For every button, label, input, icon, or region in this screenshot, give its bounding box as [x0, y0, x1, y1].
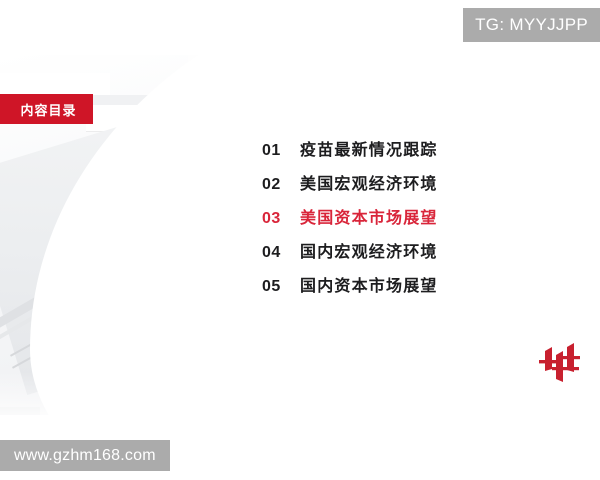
agenda-number: 04	[262, 244, 300, 262]
agenda-number: 01	[262, 142, 300, 160]
agenda-item-02[interactable]: 02 美国宏观经济环境	[262, 170, 512, 204]
agenda-label: 美国资本市场展望	[300, 204, 438, 228]
agenda-item-04[interactable]: 04 国内宏观经济环境	[262, 238, 512, 272]
agenda-item-05[interactable]: 05 国内资本市场展望	[262, 272, 512, 306]
agenda-item-03[interactable]: 03 美国资本市场展望	[262, 204, 512, 238]
agenda-list: 01 疫苗最新情况跟踪 02 美国宏观经济环境 03 美国资本市场展望 04 国…	[262, 136, 512, 306]
company-logo-icon	[537, 338, 581, 384]
agenda-number: 05	[262, 278, 300, 296]
slide-canvas: 内容目录 01 疫苗最新情况跟踪 02 美国宏观经济环境 03 美国资本市场展望…	[0, 0, 600, 480]
agenda-number: 03	[262, 210, 300, 228]
section-badge: 内容目录	[0, 94, 93, 124]
agenda-label: 国内资本市场展望	[300, 272, 438, 296]
agenda-label: 美国宏观经济环境	[300, 170, 438, 194]
agenda-item-01[interactable]: 01 疫苗最新情况跟踪	[262, 136, 512, 170]
agenda-label: 疫苗最新情况跟踪	[300, 136, 438, 160]
agenda-number: 02	[262, 176, 300, 194]
watermark-bottom-left: www.gzhm168.com	[0, 440, 170, 471]
photo-bottom-fade	[0, 372, 330, 432]
agenda-label: 国内宏观经济环境	[300, 238, 438, 262]
watermark-top-right: TG: MYYJJPP	[463, 8, 600, 42]
